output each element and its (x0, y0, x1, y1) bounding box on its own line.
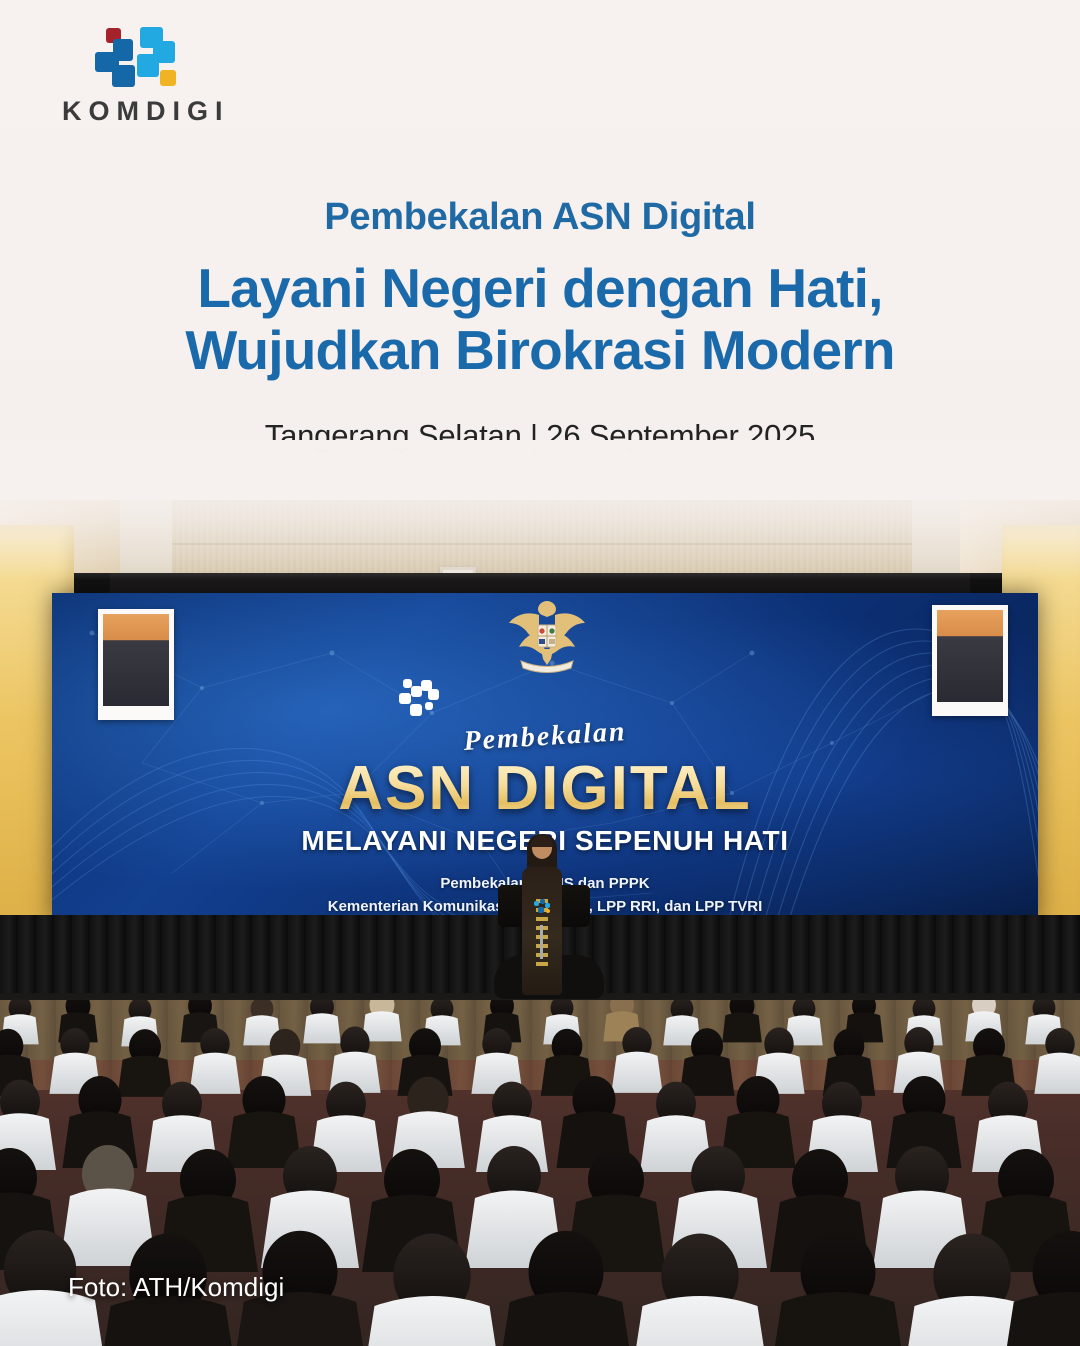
portrait-photo-right (937, 610, 1003, 702)
speaker-at-podium (516, 837, 568, 997)
header-section: KOMDIGI Pembekalan ASN Digital Layani Ne… (0, 0, 1080, 500)
page-title: Layani Negeri dengan Hati, Wujudkan Biro… (0, 258, 1080, 381)
garuda-pancasila-emblem (507, 593, 587, 677)
headline-line-2: Wujudkan Birokrasi Modern (0, 320, 1080, 382)
microphone (540, 925, 543, 959)
podium-komdigi-icon (532, 899, 554, 915)
logo-square-yellow (160, 70, 176, 86)
poster-root: KOMDIGI Pembekalan ASN Digital Layani Ne… (0, 0, 1080, 1346)
event-location-date: Tangerang Selatan | 26 September 2025 (0, 418, 1080, 454)
headline-line-1: Layani Negeri dengan Hati, (197, 257, 882, 319)
wall-seam (172, 543, 912, 545)
banner-title: ASN DIGITAL (52, 753, 1038, 824)
komdigi-wordmark: KOMDIGI (62, 96, 282, 127)
komdigi-mark-icon (397, 679, 443, 719)
logo-square-blue-3 (112, 65, 135, 87)
photo-credit: Foto: ATH/Komdigi (68, 1272, 284, 1303)
portrait-photo-left (103, 614, 169, 706)
eyebrow-title: Pembekalan ASN Digital (0, 196, 1080, 239)
logo-square-cyan-3 (137, 54, 159, 77)
komdigi-logo-block: KOMDIGI (62, 26, 282, 136)
komdigi-logo-icon (90, 26, 182, 88)
president-portrait (98, 609, 174, 720)
event-photo: Pembekalan ASN DIGITAL MELAYANI NEGERI S… (0, 455, 1080, 1346)
